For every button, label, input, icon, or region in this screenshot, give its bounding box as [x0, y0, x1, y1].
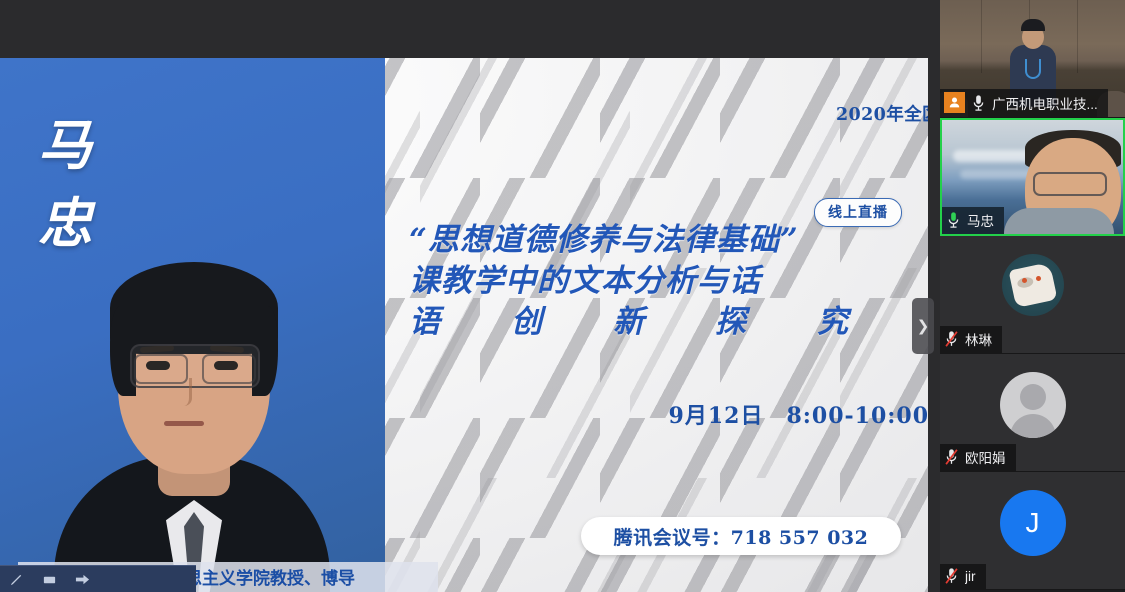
mic-muted-icon: [944, 330, 959, 348]
participant-name: 林琳: [965, 329, 992, 349]
participant-avatar: [1000, 372, 1066, 438]
speaker-photo: [58, 122, 326, 592]
chevron-right-icon[interactable]: ❯: [912, 298, 934, 354]
participant-tile[interactable]: 广西机电职业技...: [940, 0, 1125, 118]
slide-header-line-1: 2020年全区高职高专院校“思想道德修养与法律基础”课程: [785, 98, 928, 132]
participant-avatar: J: [1000, 490, 1066, 556]
host-badge-icon: [944, 92, 965, 113]
participant-tile[interactable]: J jir: [940, 472, 1125, 590]
presentation-slide: 马忠: [0, 58, 928, 592]
participant-name: jir: [965, 569, 976, 584]
meeting-window: 马忠: [0, 0, 1125, 592]
participant-avatar: [1002, 254, 1064, 316]
mic-muted-icon: [944, 567, 959, 585]
rectangle-tool-icon[interactable]: [41, 571, 58, 588]
participant-rail[interactable]: 广西机电职业技... 马忠: [940, 0, 1125, 592]
participant-nameplate: 马忠: [942, 207, 1004, 234]
mic-unmuted-icon: [946, 211, 961, 229]
mic-muted-icon: [944, 448, 959, 466]
slide-date-time: 9月12日 8:00-10:00: [409, 398, 928, 430]
participant-tile[interactable]: 林琳: [940, 236, 1125, 354]
participant-name: 广西机电职业技...: [992, 93, 1098, 113]
participant-name: 欧阳娟: [965, 447, 1006, 467]
mic-unmuted-icon: [971, 94, 986, 112]
participant-name: 马忠: [967, 210, 994, 230]
slide-main-title: “思想道德修养与法律基础” 课教学中的文本分析与话 语 创 新 探 究: [409, 220, 928, 343]
meeting-number-pill: 腾讯会议号：718 557 032: [581, 517, 901, 555]
participant-nameplate: 广西机电职业技...: [940, 89, 1108, 117]
slide-title-line-2: 课教学中的文本分析与话: [409, 261, 928, 302]
participant-nameplate: jir: [940, 564, 986, 589]
slide-title-line-1: “思想道德修养与法律基础”: [409, 220, 928, 261]
pen-tool-icon[interactable]: [8, 571, 25, 588]
slide-title-line-3: 语 创 新 探 究: [409, 302, 928, 343]
speaker-portrait-panel: 马忠: [0, 58, 385, 592]
slide-header-line-2: 骨干教师培训暨集体备课会 专家报告④: [785, 132, 928, 166]
annotation-toolbar[interactable]: [0, 565, 196, 592]
slide-content: 2020年全区高职高专院校“思想道德修养与法律基础”课程 骨干教师培训暨集体备课…: [385, 58, 928, 592]
participant-nameplate: 欧阳娟: [940, 444, 1016, 471]
shared-screen-stage[interactable]: 马忠: [0, 0, 940, 592]
participant-tile[interactable]: 欧阳娟: [940, 354, 1125, 472]
participant-tile-active[interactable]: 马忠: [940, 118, 1125, 236]
arrow-tool-icon[interactable]: [74, 571, 91, 588]
participant-nameplate: 林琳: [940, 326, 1002, 353]
slide-header: 2020年全区高职高专院校“思想道德修养与法律基础”课程 骨干教师培训暨集体备课…: [785, 98, 928, 166]
